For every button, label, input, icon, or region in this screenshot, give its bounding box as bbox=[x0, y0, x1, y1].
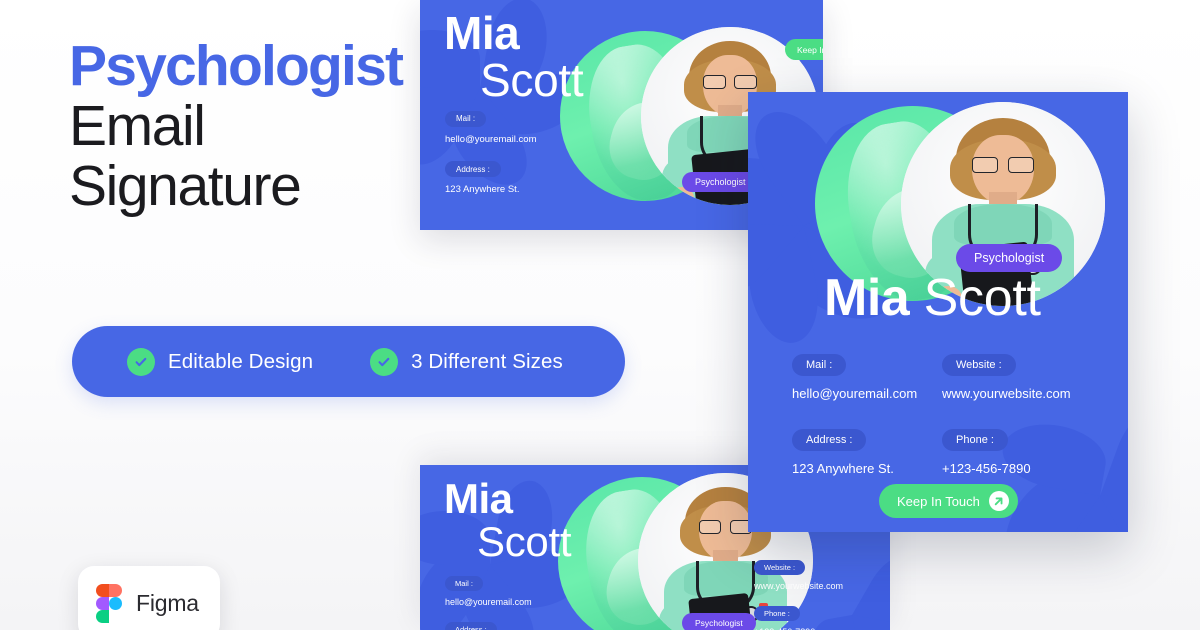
field-website: Website : www.yourwebsite.com bbox=[942, 354, 1092, 401]
contact-name: Mia Scott bbox=[444, 477, 571, 563]
field-label: Address : bbox=[792, 429, 866, 451]
field-phone: Phone : +123-456-7890 bbox=[942, 429, 1092, 476]
keep-in-touch-button[interactable]: Keep In Touch bbox=[785, 39, 823, 60]
contact-last-name: Scott bbox=[924, 269, 1041, 327]
contact-field-row: Address : 123 Anywhere St. Phone : +123-… bbox=[792, 429, 1092, 476]
contact-name: Mia Scott bbox=[444, 10, 583, 104]
contact-first-name: Mia bbox=[444, 10, 583, 57]
field-label: Mail : bbox=[445, 111, 486, 127]
field-mail: Mail : hello@youremail.com bbox=[445, 573, 532, 607]
field-address: Address : 123 Anywhere St. bbox=[445, 159, 536, 196]
field-label: Address : bbox=[445, 622, 497, 630]
field-value: 123 Anywhere St. bbox=[792, 461, 942, 476]
contact-field-row: Mail : hello@youremail.com Website : www… bbox=[792, 354, 1092, 401]
field-website: Website : www.yourwebsite.com bbox=[754, 557, 843, 591]
field-label: Mail : bbox=[792, 354, 846, 376]
field-label: Website : bbox=[754, 560, 805, 575]
feature-pill: Editable Design 3 Different Sizes bbox=[72, 326, 625, 397]
contact-last-name: Scott bbox=[480, 57, 583, 104]
field-phone: Phone : +123-456-7890 bbox=[754, 603, 843, 630]
field-value: www.yourwebsite.com bbox=[754, 581, 843, 591]
field-mail: Mail : hello@youremail.com bbox=[445, 108, 536, 145]
field-value: hello@youremail.com bbox=[445, 597, 532, 607]
keep-in-touch-label: Keep In Touch bbox=[897, 494, 980, 509]
field-value: hello@youremail.com bbox=[792, 386, 942, 401]
field-label: Website : bbox=[942, 354, 1016, 376]
contact-first-name: Mia bbox=[824, 269, 909, 327]
contact-fields: Mail : hello@youremail.com Address : 123… bbox=[445, 108, 536, 209]
figma-chip[interactable]: Figma bbox=[78, 566, 220, 630]
field-value: www.yourwebsite.com bbox=[942, 386, 1092, 401]
contact-last-name: Scott bbox=[477, 520, 571, 563]
field-address: Address : 123 Anywhere St. bbox=[792, 429, 942, 476]
figma-logo-icon bbox=[96, 584, 122, 622]
figma-label: Figma bbox=[136, 590, 199, 617]
field-mail: Mail : hello@youremail.com bbox=[792, 354, 942, 401]
contact-fields: Mail : hello@youremail.com Website : www… bbox=[792, 354, 1092, 504]
check-circle-icon bbox=[370, 348, 398, 376]
field-label: Address : bbox=[445, 161, 501, 177]
design-preview-canvas: Psychologist Email Signature Editable De… bbox=[0, 0, 1200, 630]
field-value: hello@youremail.com bbox=[445, 134, 536, 145]
feature-item-sizes: 3 Different Sizes bbox=[370, 348, 563, 376]
field-label: Phone : bbox=[754, 606, 800, 621]
field-label: Mail : bbox=[445, 576, 483, 591]
contact-fields-left: Mail : hello@youremail.com Address : 123… bbox=[445, 573, 532, 630]
role-badge: Psychologist bbox=[956, 244, 1062, 272]
keep-in-touch-label: Keep In Touch bbox=[797, 45, 823, 55]
role-badge: Psychologist bbox=[682, 613, 756, 630]
feature-item-editable-design: Editable Design bbox=[127, 348, 313, 376]
feature-label: Editable Design bbox=[168, 350, 313, 374]
field-value: +123-456-7890 bbox=[942, 461, 1092, 476]
keep-in-touch-button[interactable]: Keep In Touch bbox=[879, 484, 1018, 518]
email-signature-card-portrait[interactable]: Psychologist Mia Scott Mail : hello@your… bbox=[748, 92, 1128, 532]
feature-label: 3 Different Sizes bbox=[411, 350, 563, 374]
check-circle-icon bbox=[127, 348, 155, 376]
field-label: Phone : bbox=[942, 429, 1008, 451]
arrow-up-right-icon bbox=[989, 491, 1009, 511]
contact-name: Mia Scott bbox=[824, 270, 1041, 326]
contact-first-name: Mia bbox=[444, 477, 571, 520]
field-value: 123 Anywhere St. bbox=[445, 184, 536, 195]
contact-fields-right: Website : www.yourwebsite.com Phone : +1… bbox=[754, 557, 843, 630]
field-address: Address : 123 Anywhere St. bbox=[445, 619, 532, 630]
